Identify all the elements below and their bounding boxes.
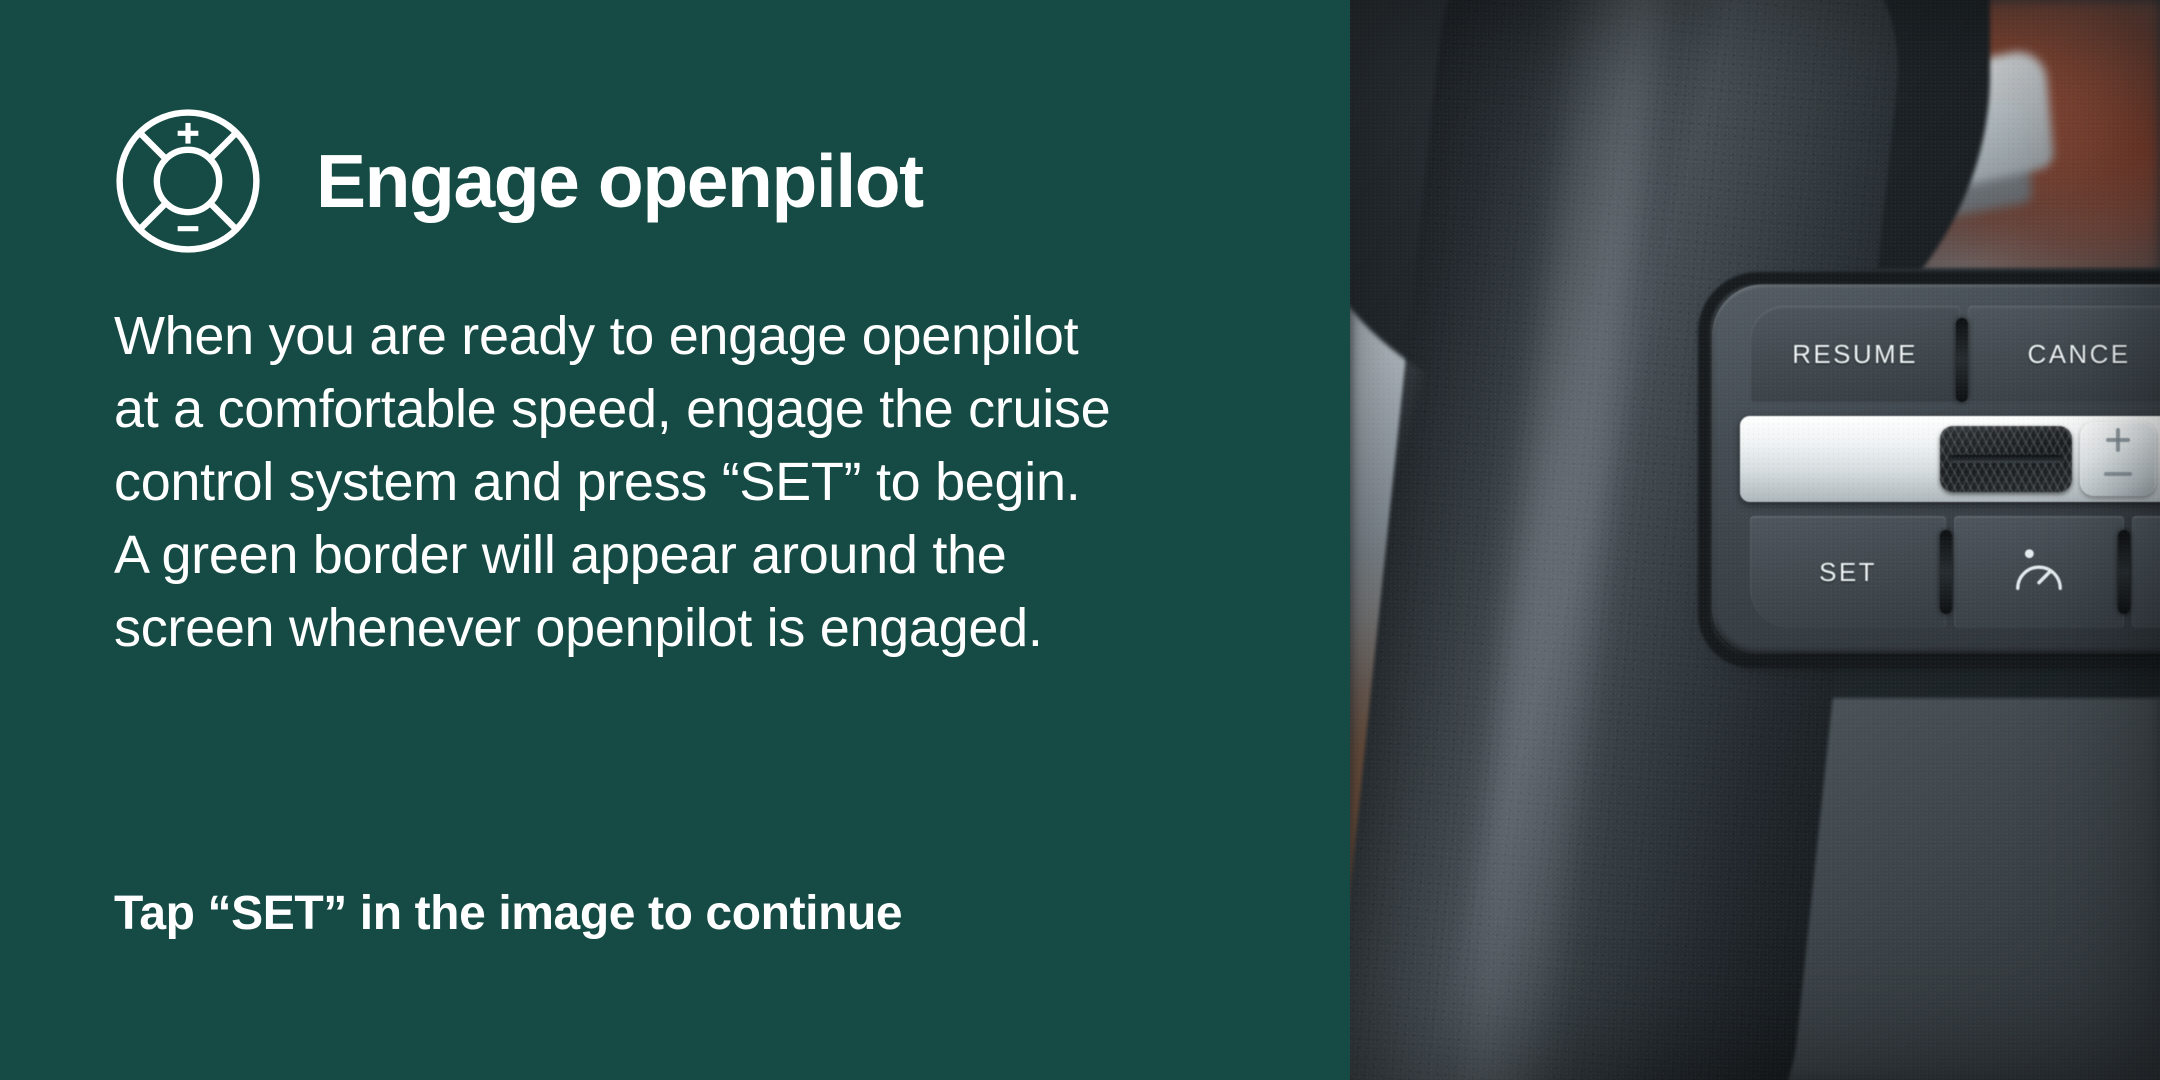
body-line: control system and press “SET” to begin. — [114, 446, 1274, 519]
speed-rocker-switch[interactable] — [1940, 426, 2072, 492]
button-separator — [2118, 530, 2130, 614]
steering-wheel-photo[interactable]: RESUME CANCE S — [1350, 0, 2160, 1080]
resume-button-label: RESUME — [1792, 339, 1918, 370]
speed-limit-gap-icon — [2008, 544, 2070, 600]
cruise-buttons-bottom-row: SET — [1750, 516, 2160, 628]
continue-prompt: Tap “SET” in the image to continue — [114, 890, 902, 938]
button-separator — [1940, 530, 1952, 614]
rocker-slot — [1950, 455, 2062, 463]
body-line: screen whenever openpilot is engaged. — [114, 592, 1274, 665]
set-button-label: SET — [1819, 557, 1877, 588]
panel-header: Engage openpilot — [112, 96, 923, 266]
instruction-body: When you are ready to engage openpilot a… — [114, 300, 1274, 665]
cancel-button-label: CANCE — [2028, 339, 2131, 370]
button-separator — [1956, 318, 1968, 402]
instruction-panel: Engage openpilot When you are ready to e… — [0, 0, 1350, 1080]
cruise-control-button-pod: RESUME CANCE S — [1712, 284, 2160, 654]
set-button[interactable]: SET — [1750, 516, 1946, 628]
chrome-knob[interactable] — [2080, 422, 2156, 496]
cancel-button[interactable]: CANCE — [1968, 306, 2160, 402]
page-title: Engage openpilot — [316, 144, 923, 219]
onboarding-screen: Engage openpilot When you are ready to e… — [0, 0, 2160, 1080]
body-line: When you are ready to engage openpilot — [114, 300, 1274, 373]
speed-limit-gap-button[interactable] — [1954, 516, 2124, 628]
extra-button[interactable] — [2132, 516, 2160, 628]
panel-content: Engage openpilot When you are ready to e… — [112, 0, 1292, 1080]
minus-icon — [2104, 472, 2132, 476]
resume-button[interactable]: RESUME — [1750, 306, 1960, 402]
plus-icon-vertical — [2116, 428, 2120, 452]
body-line: A green border will appear around the — [114, 519, 1274, 592]
cruise-buttons-top-row: RESUME CANCE — [1750, 306, 2160, 402]
body-line: at a comfortable speed, engage the cruis… — [114, 373, 1274, 446]
cruise-control-openpilot-icon — [112, 105, 264, 257]
chrome-rocker-bar — [1740, 416, 2160, 502]
